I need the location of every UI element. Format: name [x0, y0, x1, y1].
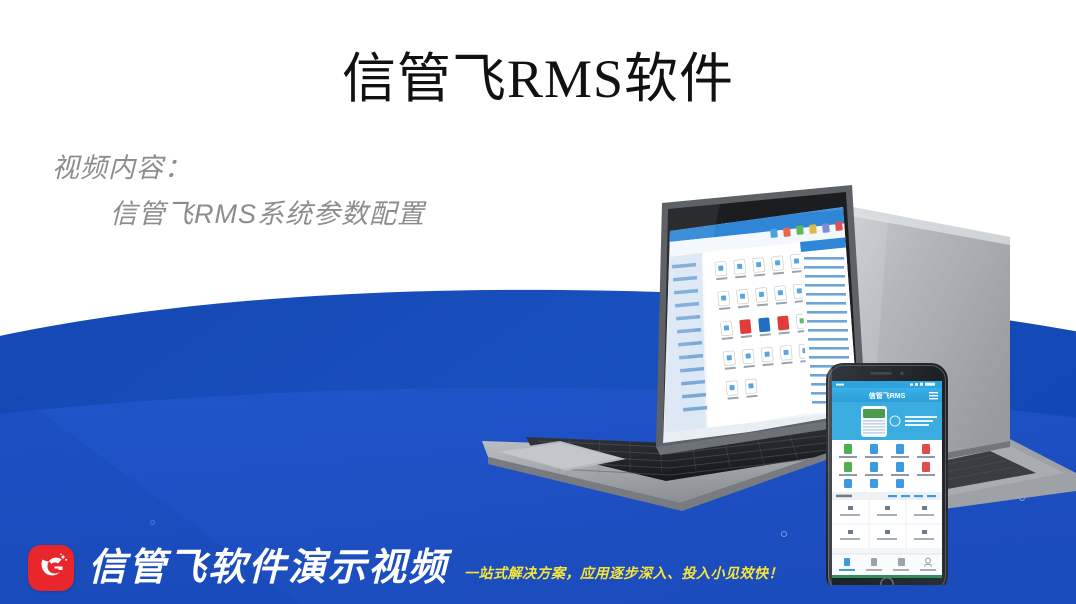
banner-tagline: 一站式解决方案，应用逐步深入、投入小见效快！	[464, 563, 783, 583]
page-title: 信管飞RMS软件	[0, 48, 1076, 110]
video-content-block: 视频内容： 信管飞RMS系统参数配置	[52, 152, 425, 232]
slide-canvas: 信管飞RMS软件 视频内容： 信管飞RMS系统参数配置	[0, 0, 1076, 604]
brand-title: 信管飞软件演示视频	[88, 549, 448, 587]
laptop-front-graphic	[482, 185, 874, 511]
bottom-banner: 信管飞软件演示视频 一站式解决方案，应用逐步深入、投入小见效快！	[0, 532, 1076, 604]
decor-dot	[150, 520, 155, 525]
video-content-value: 信管飞RMS系统参数配置	[110, 198, 425, 232]
svg-text:信管飞RMS: 信管飞RMS	[869, 391, 906, 400]
device-cluster: 信管飞RMS	[470, 185, 1076, 575]
xinguanfei-logo-icon	[28, 545, 74, 591]
video-content-label: 视频内容：	[52, 152, 425, 186]
